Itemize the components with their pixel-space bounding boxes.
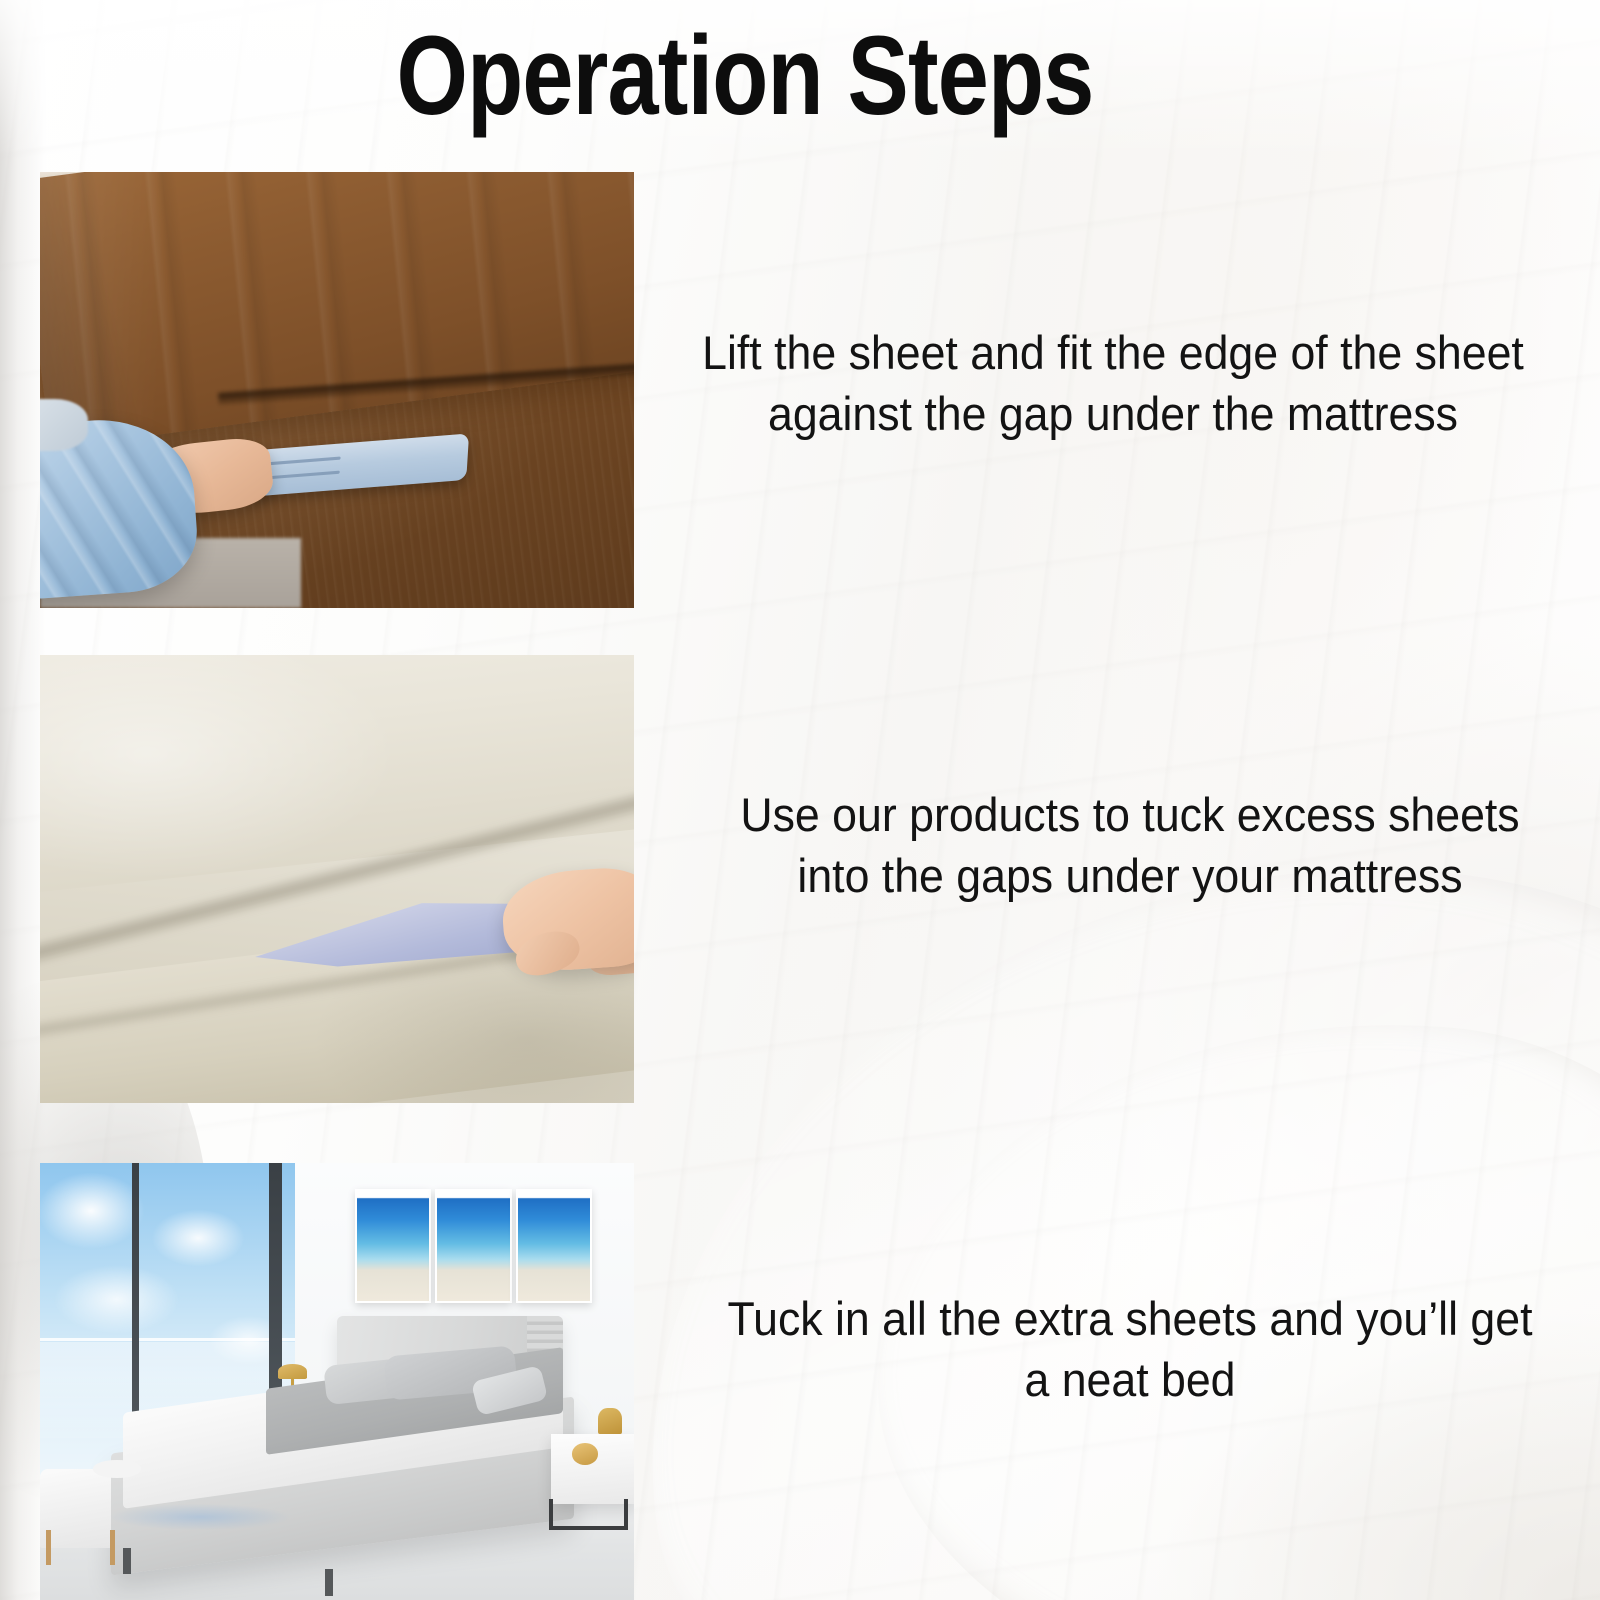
step-2-photo [40, 655, 634, 1103]
step-1-caption: Lift the sheet and fit the edge of the s… [671, 322, 1555, 444]
step-2-photo-scene [40, 655, 634, 1103]
sleeve-cuff [40, 399, 88, 451]
step-3-photo-scene [40, 1163, 634, 1600]
artwork-panel-2 [435, 1189, 512, 1303]
step-1-photo-scene [40, 172, 634, 608]
infographic-canvas: Operation Steps [0, 0, 1600, 1600]
step-2-caption: Use our products to tuck excess sheets i… [712, 784, 1548, 906]
bedside-clock [572, 1443, 599, 1465]
step-3-photo [40, 1163, 634, 1600]
artwork-panel-3 [516, 1189, 593, 1303]
artwork-panel-1 [355, 1189, 432, 1303]
page-title: Operation Steps [134, 20, 1356, 132]
bed-leg-left [123, 1548, 131, 1574]
balcony-railing-line [40, 1338, 295, 1341]
step-1-photo [40, 172, 634, 608]
table-lamp-right [598, 1408, 622, 1434]
floor-light-reflection [111, 1504, 289, 1530]
round-side-table [93, 1460, 141, 1477]
beach-triptych-artwork [355, 1189, 593, 1303]
bed-leg-front [325, 1569, 333, 1595]
lamp-shade [278, 1364, 308, 1379]
step-3-caption: Tuck in all the extra sheets and you’ll … [712, 1288, 1548, 1410]
nightstand-right-legs [549, 1499, 628, 1529]
lounge-chair-legs [46, 1530, 115, 1565]
